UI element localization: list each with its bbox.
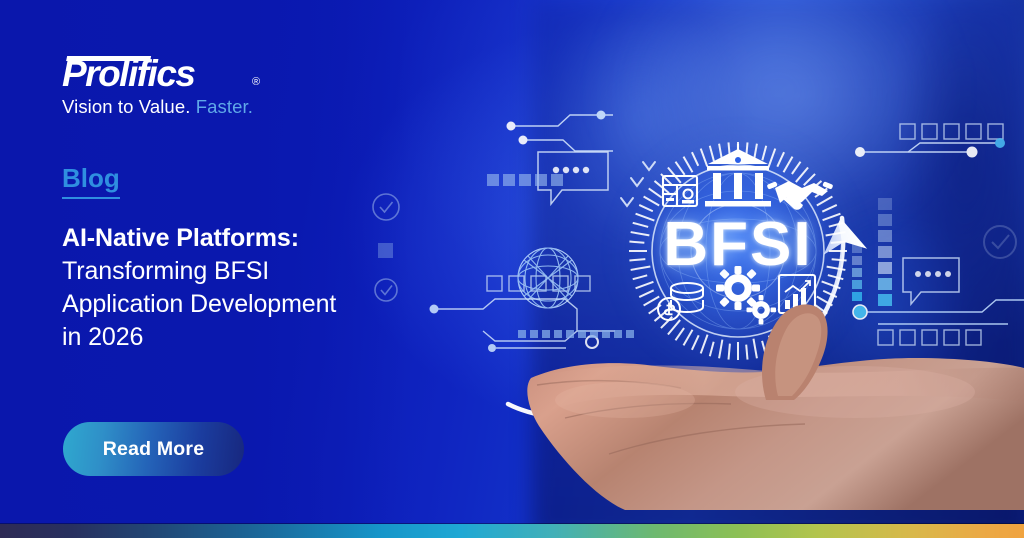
svg-text:Prolifics: Prolifics [62,53,195,94]
circuit-lines [855,138,1005,158]
tagline-primary: Vision to Value. [62,96,190,117]
pixel-bar-row [487,174,563,186]
brand-tagline: Vision to Value. Faster. [62,96,253,118]
svg-text:®: ® [252,76,260,88]
square-outline-row [900,124,1003,139]
tagline-accent: Faster. [196,96,253,117]
headline-line-2: Transforming BFSI [62,255,392,288]
read-more-button[interactable]: Read More [63,422,244,476]
category-label: Blog [62,163,120,193]
spectrum-accent-bar [0,524,1024,538]
checkmark-circle-icon [984,226,1016,258]
headline-line-3: Application Development [62,288,392,321]
chat-bubble-dots-icon [903,258,959,304]
category-link-blog[interactable]: Blog [62,163,120,199]
prolifics-logo[interactable]: Prolifics ® [62,52,272,94]
thumb [738,290,848,400]
headline-line-1: AI-Native Platforms: [62,222,392,255]
circuit-lines [507,111,614,152]
blog-banner: BFSI [0,0,1024,538]
category-underline [62,197,120,199]
horizontal-line-stack [900,180,1024,260]
headline-line-4: in 2026 [62,321,392,354]
page-title: AI-Native Platforms: Transforming BFSI A… [62,222,392,354]
hologram-label: BFSI [607,214,869,276]
